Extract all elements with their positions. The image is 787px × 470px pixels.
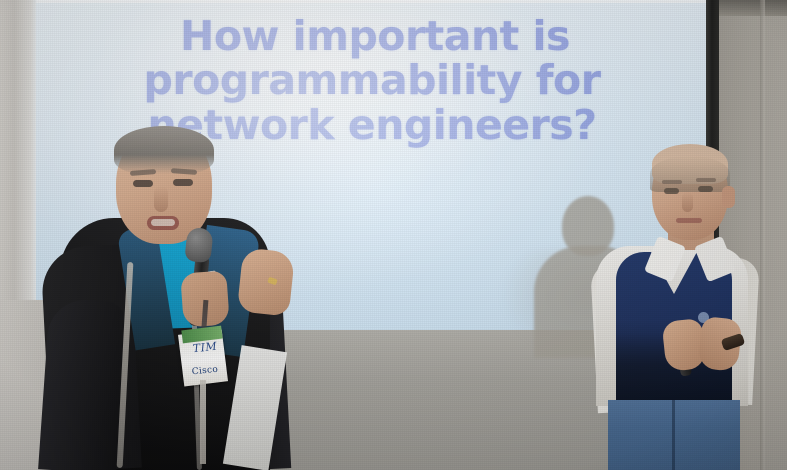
left-speaker-gesturing-hand [237, 247, 295, 316]
right-speaker-eye-right [698, 186, 713, 192]
left-speaker-microphone-head [184, 227, 213, 264]
right-speaker-jeans-seam [672, 400, 675, 470]
right-speaker-eyebrow-left [662, 180, 682, 184]
badge-clip-strip [200, 380, 206, 464]
right-speaker-eye-left [664, 188, 679, 194]
right-speaker-eyebrow-right [696, 178, 716, 182]
left-speaker-hair [114, 126, 214, 174]
right-speaker-mouth [676, 218, 702, 223]
right-speaker-nose [682, 192, 693, 212]
left-speaker-nose [154, 186, 168, 212]
left-speaker-teeth [151, 219, 175, 226]
screen-top-edge [36, 0, 708, 3]
left-speaker-left-arm [38, 297, 128, 470]
right-speaker-ear [722, 186, 735, 208]
presentation-photo: How important is programmability for net… [0, 0, 787, 470]
cast-shadow-head [562, 196, 614, 256]
right-wall-seam [760, 0, 765, 470]
left-speaker-eye-left [133, 180, 153, 187]
right-speaker-hair [650, 156, 730, 192]
left-speaker-eye-right [173, 179, 193, 186]
right-wall-upper-band [718, 0, 787, 16]
